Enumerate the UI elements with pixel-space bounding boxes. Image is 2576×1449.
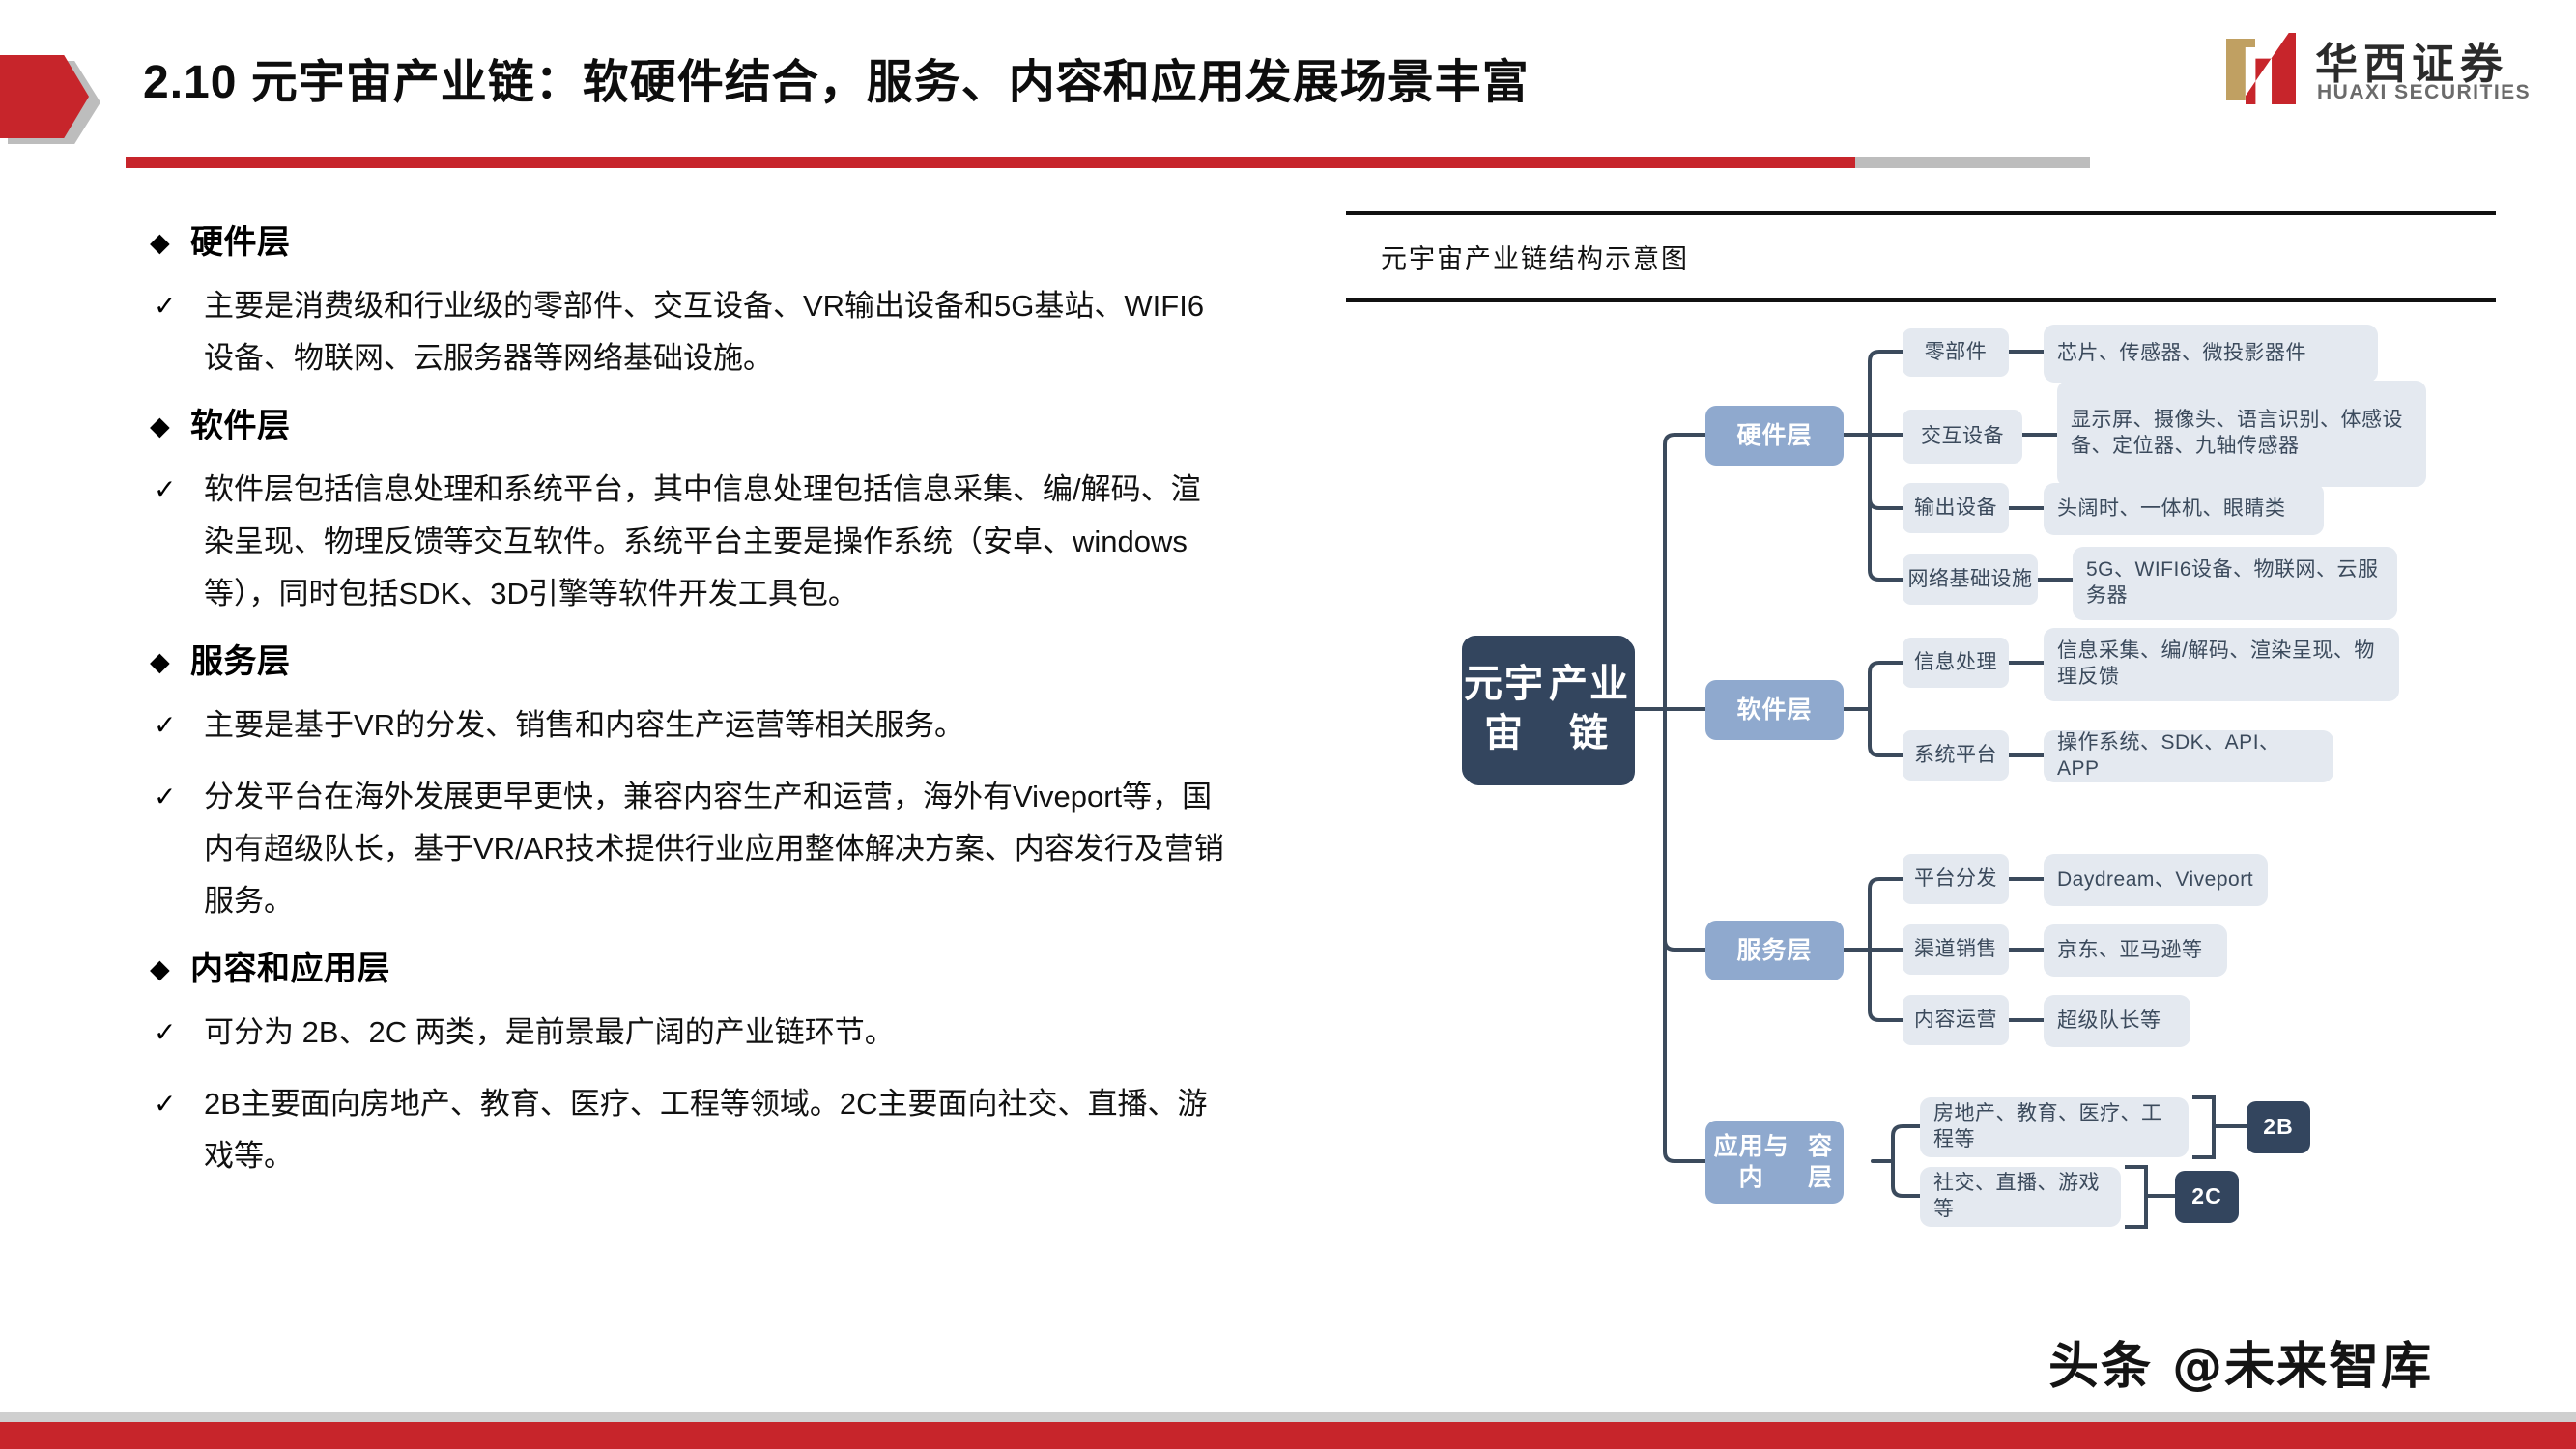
content-column: ◆硬件层✓主要是消费级和行业级的零部件、交互设备、VR输出设备和5G基站、WIF…	[150, 220, 1304, 1202]
footer-gray-bar	[0, 1412, 2576, 1422]
header-rule-red	[126, 157, 1855, 168]
brand-logo: 华西证券 HUAXI SECURITIES	[2222, 29, 2551, 110]
bullet-item: ✓分发平台在海外发展更早更快，兼容内容生产和运营，海外有Viveport等，国内…	[150, 771, 1304, 927]
section-heading-label: 软件层	[190, 404, 291, 448]
bullet-item: ✓主要是基于VR的分发、销售和内容生产运营等相关服务。	[150, 699, 1304, 752]
leaf-value-application-2[interactable]: 社交、直播、游戏等	[1920, 1167, 2121, 1227]
tag-2c[interactable]: 2C	[2175, 1171, 2239, 1223]
section-heading: ◆内容和应用层	[150, 947, 1304, 991]
leaf-value-service-3[interactable]: 超级队长等	[2044, 995, 2190, 1047]
panel-rule-bottom	[1346, 298, 2496, 302]
panel-rule-top	[1346, 211, 2496, 215]
diamond-bullet-icon: ◆	[150, 404, 190, 448]
layer-node-2[interactable]: 软件层	[1705, 680, 1844, 740]
diamond-bullet-icon: ◆	[150, 947, 190, 991]
page-title: 2.10 元宇宙产业链：软硬件结合，服务、内容和应用发展场景丰富	[143, 43, 1530, 111]
sub-label-hardware-2[interactable]: 交互设备	[1903, 410, 2022, 464]
sub-label-software-2[interactable]: 系统平台	[1903, 730, 2009, 781]
content-block: ◆硬件层✓主要是消费级和行业级的零部件、交互设备、VR输出设备和5G基站、WIF…	[150, 220, 1304, 384]
diamond-bullet-icon: ◆	[150, 639, 190, 684]
slide-root: 2.10 元宇宙产业链：软硬件结合，服务、内容和应用发展场景丰富 华西证券 HU…	[0, 0, 2576, 1449]
leaf-value-hardware-4[interactable]: 5G、WIFI6设备、物联网、云服务器	[2073, 547, 2397, 620]
check-bullet-icon: ✓	[150, 771, 204, 823]
bullet-item: ✓2B主要面向房地产、教育、医疗、工程等领域。2C主要面向社交、直播、游戏等。	[150, 1078, 1304, 1182]
sub-label-hardware-1[interactable]: 零部件	[1903, 328, 2009, 377]
bullet-item: ✓主要是消费级和行业级的零部件、交互设备、VR输出设备和5G基站、WIFI6设备…	[150, 280, 1304, 384]
check-bullet-icon: ✓	[150, 1078, 204, 1130]
sub-label-service-1[interactable]: 平台分发	[1903, 854, 2009, 904]
logo-name-en: HUAXI SECURITIES	[2317, 81, 2531, 104]
header-rule-gray	[1855, 157, 2090, 168]
section-heading-label: 内容和应用层	[190, 947, 390, 991]
diagram-panel: 元宇宙产业链结构示意图	[1346, 211, 2534, 1235]
watermark: 头条 @未来智库	[2048, 1325, 2433, 1398]
section-heading: ◆硬件层	[150, 220, 1304, 265]
diagram-title: 元宇宙产业链结构示意图	[1381, 238, 1689, 275]
check-bullet-icon: ✓	[150, 280, 204, 332]
content-block: ◆软件层✓软件层包括信息处理和系统平台，其中信息处理包括信息采集、编/解码、渲染…	[150, 404, 1304, 620]
layer-node-1[interactable]: 硬件层	[1705, 406, 1844, 466]
diagram-root-node[interactable]: 元宇宙产业链	[1462, 636, 1632, 782]
bullet-text: 主要是消费级和行业级的零部件、交互设备、VR输出设备和5G基站、WIFI6设备、…	[204, 280, 1228, 384]
check-bullet-icon: ✓	[150, 464, 204, 516]
bullet-item: ✓可分为 2B、2C 两类，是前景最广阔的产业链环节。	[150, 1007, 1304, 1059]
section-heading-label: 服务层	[190, 639, 291, 684]
bullet-item: ✓软件层包括信息处理和系统平台，其中信息处理包括信息采集、编/解码、渲染呈现、物…	[150, 464, 1304, 620]
leaf-value-service-1[interactable]: Daydream、Viveport	[2044, 854, 2268, 906]
content-block: ◆服务层✓主要是基于VR的分发、销售和内容生产运营等相关服务。✓分发平台在海外发…	[150, 639, 1304, 927]
sub-label-service-2[interactable]: 渠道销售	[1903, 924, 2009, 975]
sub-label-hardware-3[interactable]: 输出设备	[1903, 483, 2009, 533]
section-heading-label: 硬件层	[190, 220, 291, 265]
sub-label-hardware-4[interactable]: 网络基础设施	[1903, 554, 2038, 605]
content-block: ◆内容和应用层✓可分为 2B、2C 两类，是前景最广阔的产业链环节。✓2B主要面…	[150, 947, 1304, 1182]
layer-node-3[interactable]: 服务层	[1705, 921, 1844, 980]
leaf-value-hardware-2[interactable]: 显示屏、摄像头、语言识别、体感设备、定位器、九轴传感器	[2057, 381, 2426, 487]
section-heading: ◆软件层	[150, 404, 1304, 448]
tag-2b[interactable]: 2B	[2247, 1101, 2310, 1153]
leaf-value-hardware-1[interactable]: 芯片、传感器、微投影器件	[2044, 325, 2378, 383]
leaf-value-software-1[interactable]: 信息采集、编/解码、渲染呈现、物理反馈	[2044, 628, 2399, 701]
section-heading: ◆服务层	[150, 639, 1304, 684]
huaxi-mark-icon	[2222, 33, 2300, 102]
leaf-value-application-1[interactable]: 房地产、教育、医疗、工程等	[1920, 1097, 2189, 1157]
sub-label-software-1[interactable]: 信息处理	[1903, 638, 2009, 688]
sub-label-service-3[interactable]: 内容运营	[1903, 995, 2009, 1045]
leaf-value-hardware-3[interactable]: 头阔时、一体机、眼睛类	[2044, 483, 2324, 535]
check-bullet-icon: ✓	[150, 699, 204, 752]
leaf-value-service-2[interactable]: 京东、亚马逊等	[2044, 924, 2227, 977]
bullet-text: 主要是基于VR的分发、销售和内容生产运营等相关服务。	[204, 699, 964, 752]
bullet-text: 软件层包括信息处理和系统平台，其中信息处理包括信息采集、编/解码、渲染呈现、物理…	[204, 464, 1228, 620]
bullet-text: 2B主要面向房地产、教育、医疗、工程等领域。2C主要面向社交、直播、游戏等。	[204, 1078, 1228, 1182]
leaf-value-software-2[interactable]: 操作系统、SDK、API、APP	[2044, 730, 2333, 782]
check-bullet-icon: ✓	[150, 1007, 204, 1059]
footer-red-bar	[0, 1422, 2576, 1449]
layer-node-4[interactable]: 应用与内容层	[1705, 1121, 1844, 1204]
diagram-canvas: 元宇宙产业链硬件层软件层服务层应用与内容层零部件芯片、传感器、微投影器件交互设备…	[1346, 317, 2534, 1235]
bullet-text: 可分为 2B、2C 两类，是前景最广阔的产业链环节。	[204, 1007, 895, 1059]
diamond-bullet-icon: ◆	[150, 220, 190, 265]
bullet-text: 分发平台在海外发展更早更快，兼容内容生产和运营，海外有Viveport等，国内有…	[204, 771, 1228, 927]
